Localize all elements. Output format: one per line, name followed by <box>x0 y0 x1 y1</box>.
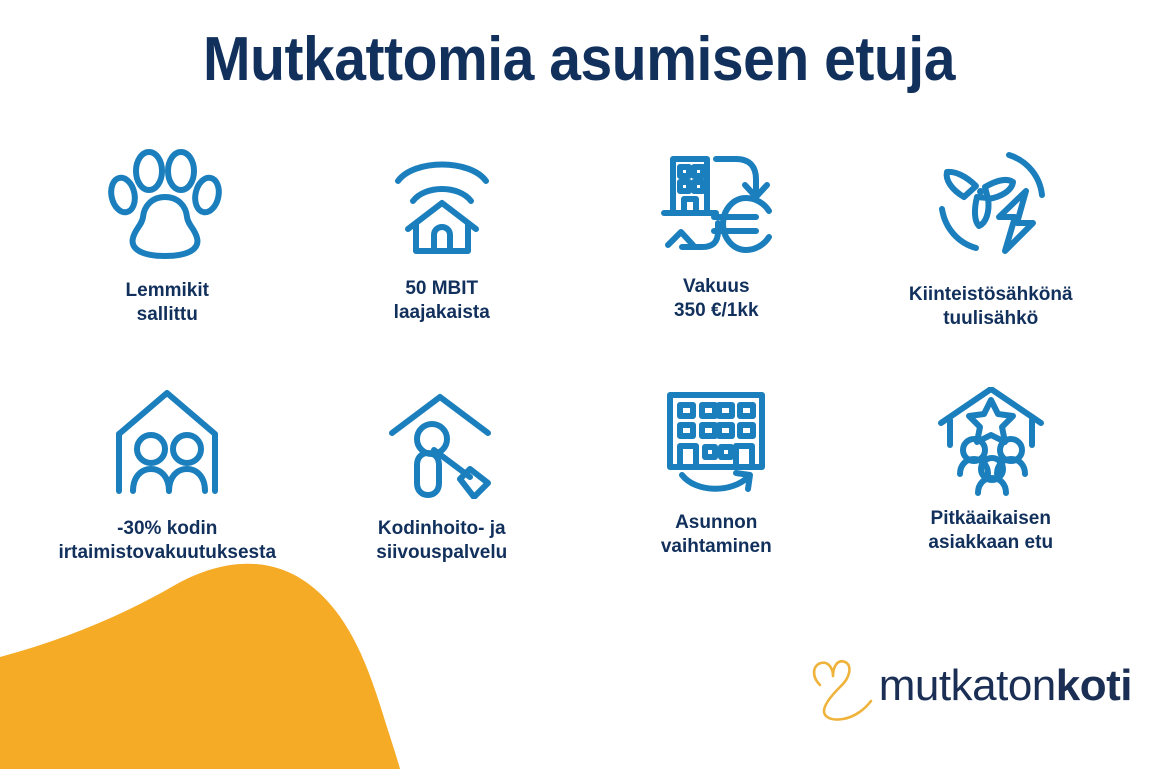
benefit-item-loyalty: Pitkäaikaisen asiakkaan etu <box>854 380 1129 610</box>
house-star-people-icon <box>928 380 1053 505</box>
benefit-label: Asunnon vaihtaminen <box>661 511 772 559</box>
benefit-label: 50 MBIT laajakaista <box>394 277 490 325</box>
house-family-icon <box>105 380 230 505</box>
benefit-item-pets: Lemmikit sallittu <box>30 140 305 370</box>
benefit-label: Lemmikit sallittu <box>126 279 209 327</box>
benefit-item-deposit: Vakuus 350 €/1kk <box>579 140 854 370</box>
wind-turbine-lightning-icon <box>928 140 1053 265</box>
benefit-item-apartment-swap: Asunnon vaihtaminen <box>579 380 854 610</box>
cleaning-person-icon <box>379 380 504 505</box>
benefit-item-broadband: 50 MBIT laajakaista <box>305 140 580 370</box>
slide-canvas: Mutkattomia asumisen etuja Lemmikit sall… <box>0 0 1158 769</box>
logo-word-bold: koti <box>1056 661 1132 710</box>
paw-print-icon <box>105 140 230 265</box>
benefit-label: Kodinhoito- ja siivouspalvelu <box>376 517 507 565</box>
benefit-label: Pitkäaikaisen asiakkaan etu <box>928 507 1053 555</box>
logo-word-light: mutkaton <box>879 661 1056 710</box>
logo-wordmark: mutkatonkoti <box>879 664 1132 708</box>
benefit-item-cleaning-service: Kodinhoito- ja siivouspalvelu <box>305 380 580 610</box>
heart-swoosh-icon <box>807 649 873 723</box>
building-euro-exchange-icon <box>654 140 779 265</box>
benefit-item-insurance-discount: -30% kodin irtaimistovakuutuksesta <box>30 380 305 610</box>
page-title: Mutkattomia asumisen etuja <box>46 24 1111 95</box>
wifi-house-icon <box>379 140 504 265</box>
benefits-grid: Lemmikit sallittu 50 MBIT laajakaista <box>30 140 1128 610</box>
brand-logo[interactable]: mutkatonkoti <box>807 649 1132 723</box>
apartment-swap-icon <box>654 380 779 505</box>
benefit-label: Vakuus 350 €/1kk <box>674 275 759 323</box>
benefit-item-windpower: Kiinteistösähkönä tuulisähkö <box>854 140 1129 370</box>
benefit-label: Kiinteistösähkönä tuulisähkö <box>909 283 1073 331</box>
benefit-label: -30% kodin irtaimistovakuutuksesta <box>58 517 276 565</box>
